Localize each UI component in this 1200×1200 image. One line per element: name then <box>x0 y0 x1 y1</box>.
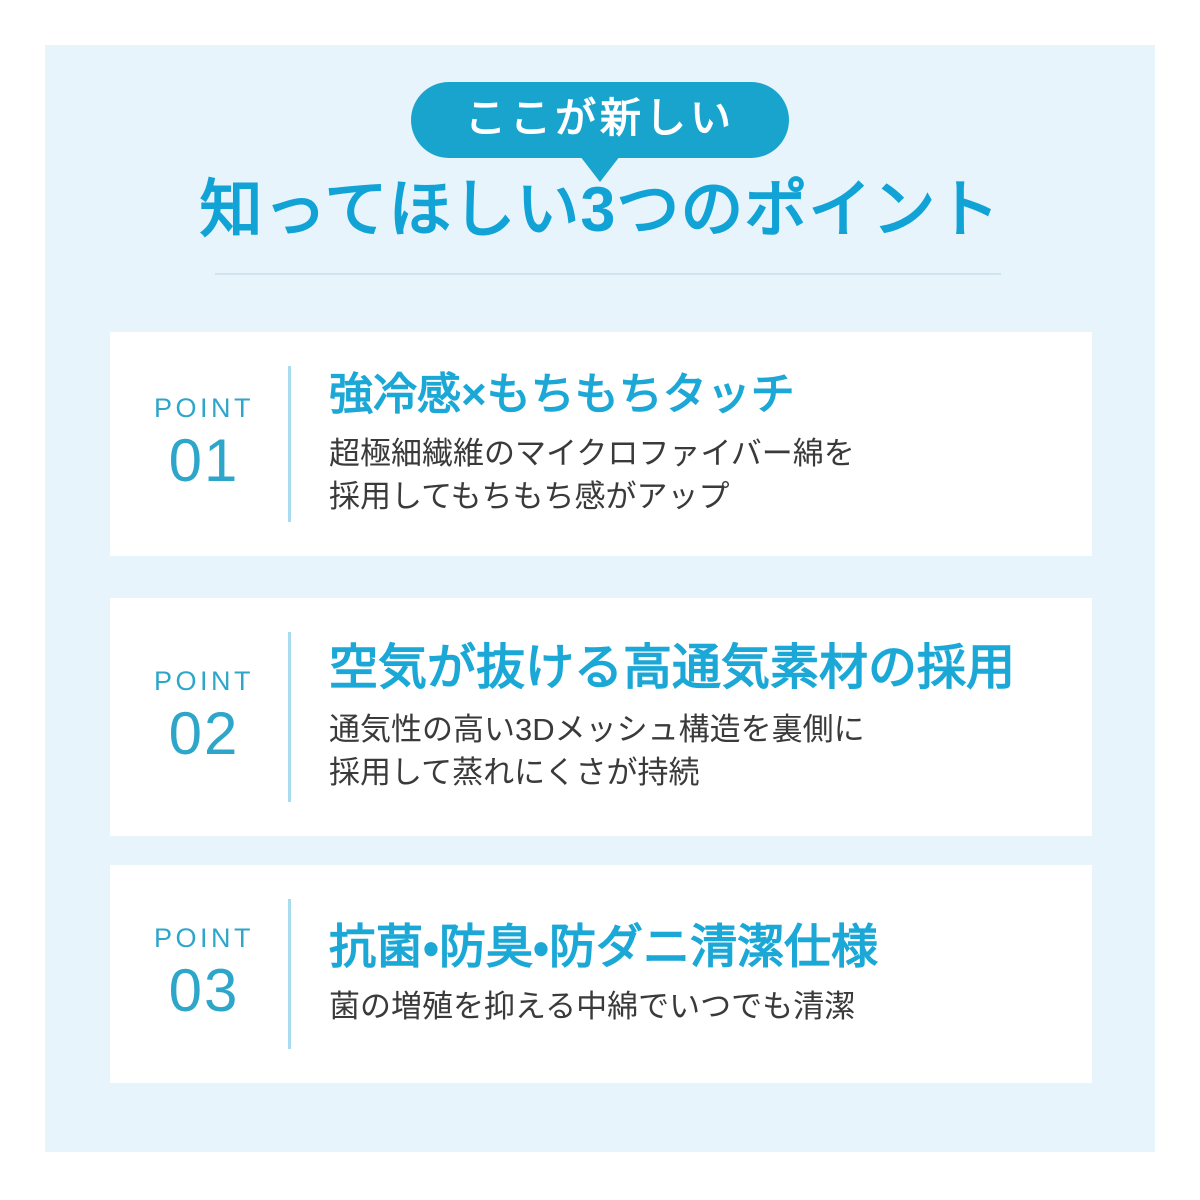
point-body-line: 採用して蒸れにくさが持続 <box>329 752 1092 795</box>
point-word: POINT <box>120 395 288 422</box>
page-title: 知ってほしい3つのポイント <box>0 173 1200 247</box>
point-label-group: POINT 03 <box>110 925 288 1024</box>
point-text-group: 空気が抜ける高通気素材の採用 通気性の高い3Dメッシュ構造を裏側に 採用して蒸れ… <box>291 639 1092 794</box>
point-text-group: 強冷感×もちもちタッチ 超極細繊維のマイクロファイバー綿を 採用してもちもち感が… <box>291 369 1092 518</box>
point-number: 02 <box>120 701 288 767</box>
point-card: POINT 01 強冷感×もちもちタッチ 超極細繊維のマイクロファイバー綿を 採… <box>110 332 1092 556</box>
promo-graphic: ここが新しい 知ってほしい3つのポイント POINT 01 強冷感×もちもちタッ… <box>0 0 1200 1200</box>
point-body: 超極細繊維のマイクロファイバー綿を 採用してもちもち感がアップ <box>329 433 1092 519</box>
point-text-group: 抗菌・防臭・防ダニ清潔仕様 菌の増殖を抑える中綿でいつでも清潔 <box>291 919 1092 1029</box>
point-body: 菌の増殖を抑える中綿でいつでも清潔 <box>329 986 1092 1029</box>
point-title: 強冷感×もちもちタッチ <box>329 369 1092 422</box>
point-body-line: 菌の増殖を抑える中綿でいつでも清潔 <box>329 986 1092 1029</box>
point-word: POINT <box>120 668 288 695</box>
point-body-line: 採用してもちもち感がアップ <box>329 476 1092 519</box>
point-title: 抗菌・防臭・防ダニ清潔仕様 <box>329 919 1092 975</box>
point-number: 01 <box>120 428 288 494</box>
point-card: POINT 02 空気が抜ける高通気素材の採用 通気性の高い3Dメッシュ構造を裏… <box>110 598 1092 836</box>
point-body-line: 通気性の高い3Dメッシュ構造を裏側に <box>329 709 1092 752</box>
point-number: 03 <box>120 958 288 1024</box>
point-word: POINT <box>120 925 288 952</box>
badge-container: ここが新しい <box>0 82 1200 158</box>
point-body: 通気性の高い3Dメッシュ構造を裏側に 採用して蒸れにくさが持続 <box>329 709 1092 795</box>
heading-divider <box>215 273 1001 275</box>
point-label-group: POINT 01 <box>110 395 288 494</box>
point-card: POINT 03 抗菌・防臭・防ダニ清潔仕様 菌の増殖を抑える中綿でいつでも清潔 <box>110 865 1092 1083</box>
point-body-line: 超極細繊維のマイクロファイバー綿を <box>329 433 1092 476</box>
badge-label: ここが新しい <box>465 95 735 141</box>
point-title: 空気が抜ける高通気素材の採用 <box>329 639 1092 698</box>
point-label-group: POINT 02 <box>110 668 288 767</box>
new-feature-badge: ここが新しい <box>411 82 789 158</box>
